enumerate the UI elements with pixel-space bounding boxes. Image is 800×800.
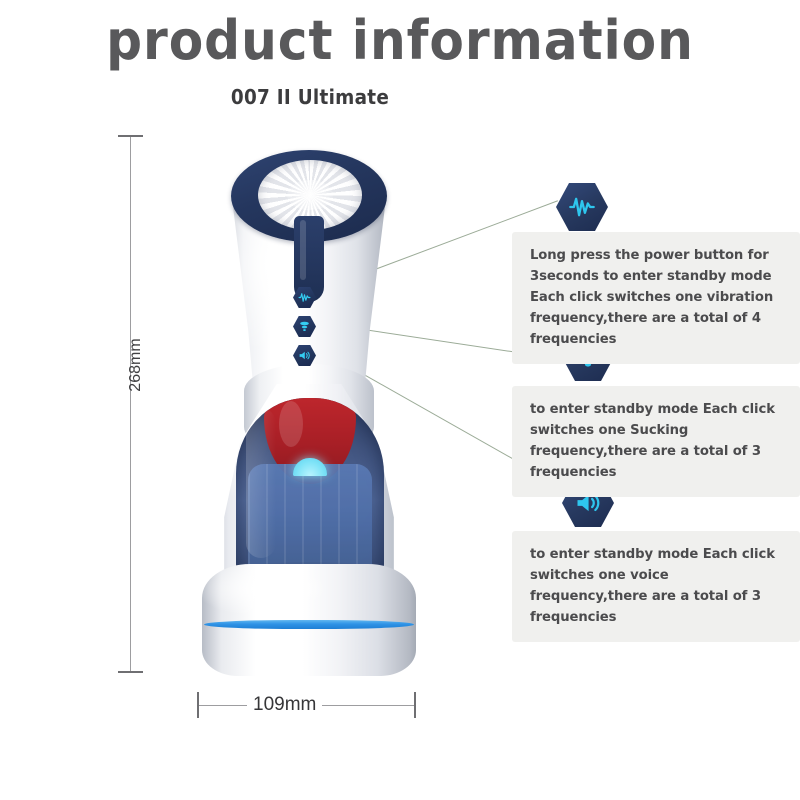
width-dimension-tick-left bbox=[197, 692, 199, 718]
suction-icon bbox=[298, 320, 311, 333]
width-dimension-tick-right bbox=[414, 692, 416, 718]
callout-icon-vibration[interactable] bbox=[556, 183, 608, 231]
device-transparent-chamber bbox=[236, 398, 384, 584]
product-information-infographic: product information 007 II Ultimate 268m… bbox=[0, 0, 800, 800]
height-dimension-tick-bottom bbox=[118, 671, 143, 673]
width-dimension-label: 109mm bbox=[247, 694, 322, 716]
vibration-wave-icon bbox=[298, 291, 311, 304]
callout-text-voice: to enter standby mode Each click switche… bbox=[512, 531, 800, 642]
height-dimension-tick-top bbox=[118, 135, 143, 137]
callout-text-suction: to enter standby mode Each click switche… bbox=[512, 386, 800, 497]
device-chamber-highlight bbox=[246, 408, 276, 558]
product-model-subtitle: 007 II Ultimate bbox=[25, 85, 595, 109]
callout-text-vibration: Long press the power button for 3seconds… bbox=[512, 232, 800, 364]
vibration-wave-icon bbox=[568, 193, 596, 221]
page-title: product information bbox=[28, 12, 772, 70]
speaker-volume-icon bbox=[298, 349, 311, 362]
device-base-led-ring bbox=[204, 620, 414, 629]
height-dimension-label: 268mm bbox=[127, 325, 145, 405]
product-device-illustration bbox=[186, 134, 432, 684]
